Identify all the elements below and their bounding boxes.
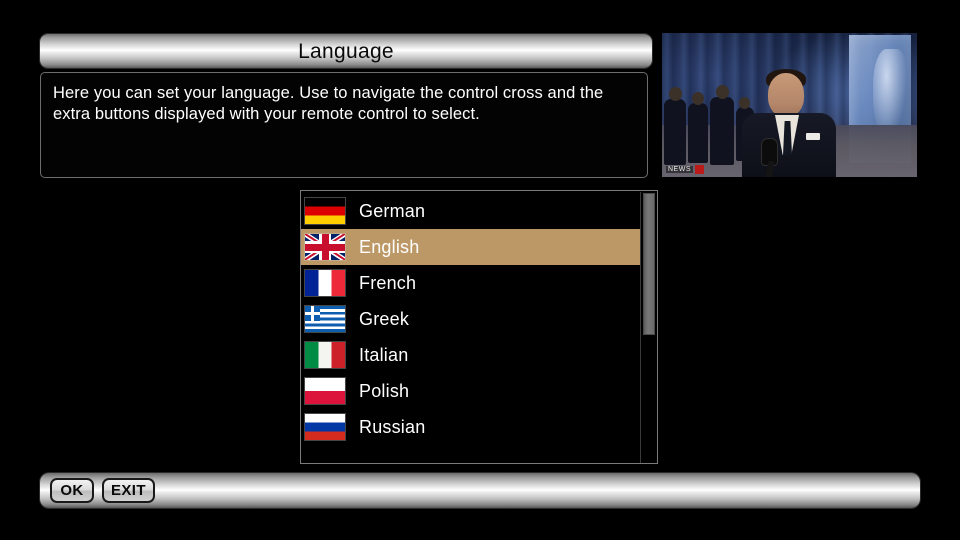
list-item-russian[interactable]: Russian — [301, 409, 641, 445]
video-reporter-head — [768, 73, 804, 117]
tv-settings-screen: Language Here you can set your language.… — [0, 0, 960, 540]
language-label: French — [359, 274, 416, 292]
language-label: English — [359, 238, 419, 256]
flag-russia-icon — [305, 414, 345, 440]
language-label: Greek — [359, 310, 409, 328]
ok-button-label: OK — [60, 483, 83, 498]
language-label: Italian — [359, 346, 408, 364]
description-text: Here you can set your language. Use to n… — [53, 83, 635, 125]
channel-logo-overlay: NEWS — [664, 164, 706, 175]
language-label: Russian — [359, 418, 425, 436]
ok-button[interactable]: OK — [50, 478, 94, 503]
footer-button-bar: OK EXIT — [40, 473, 920, 508]
flag-italy-icon — [305, 342, 345, 368]
flag-poland-icon — [305, 378, 345, 404]
video-reporter-pocket-square — [806, 133, 820, 140]
language-label: German — [359, 202, 425, 220]
list-item-english[interactable]: English — [301, 229, 641, 265]
language-list-scrollbar[interactable] — [640, 192, 656, 464]
list-item-greek[interactable]: Greek — [301, 301, 641, 337]
page-title: Language — [298, 41, 394, 62]
list-item-french[interactable]: French — [301, 265, 641, 301]
description-panel: Here you can set your language. Use to n… — [40, 72, 648, 178]
exit-button[interactable]: EXIT — [102, 478, 155, 503]
exit-button-label: EXIT — [111, 483, 146, 498]
list-item-german[interactable]: German — [301, 193, 641, 229]
page-title-bar: Language — [40, 34, 652, 68]
language-list: German English French Greek — [301, 193, 641, 445]
flag-germany-icon — [305, 198, 345, 224]
scrollbar-thumb[interactable] — [643, 193, 655, 335]
flag-france-icon — [305, 270, 345, 296]
channel-logo-text: NEWS — [666, 166, 693, 173]
flag-united-kingdom-icon — [305, 234, 345, 260]
list-item-polish[interactable]: Polish — [301, 373, 641, 409]
channel-logo-mark — [695, 165, 704, 174]
video-preview[interactable]: NEWS — [661, 32, 918, 178]
flag-greece-icon — [305, 306, 345, 332]
language-list-panel[interactable]: German English French Greek — [300, 190, 658, 464]
list-item-italian[interactable]: Italian — [301, 337, 641, 373]
language-label: Polish — [359, 382, 409, 400]
